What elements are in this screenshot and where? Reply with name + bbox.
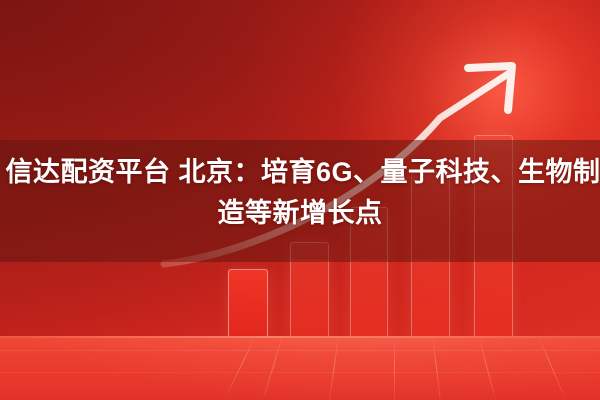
floor-horizon-line [0, 350, 600, 351]
chart-bar-2-face [291, 259, 328, 339]
floor-sheen [0, 336, 600, 400]
news-banner: 信达配资平台 北京：培育6G、量子科技、生物制 造等新增长点 [0, 0, 600, 400]
chart-bar-3-face [351, 259, 387, 339]
chart-bar-4-face [412, 259, 449, 339]
headline: 信达配资平台 北京：培育6G、量子科技、生物制 造等新增长点 [0, 152, 600, 252]
perspective-floor [0, 336, 600, 400]
chart-bar-1 [228, 269, 268, 340]
floor-grid-line [394, 336, 395, 400]
headline-line-2: 造等新增长点 [218, 193, 383, 234]
headline-line-1: 信达配资平台 北京：培育6G、量子科技、生物制 [0, 152, 600, 193]
floor-horizon-line [0, 372, 600, 373]
chart-bar-5-face [475, 259, 512, 339]
